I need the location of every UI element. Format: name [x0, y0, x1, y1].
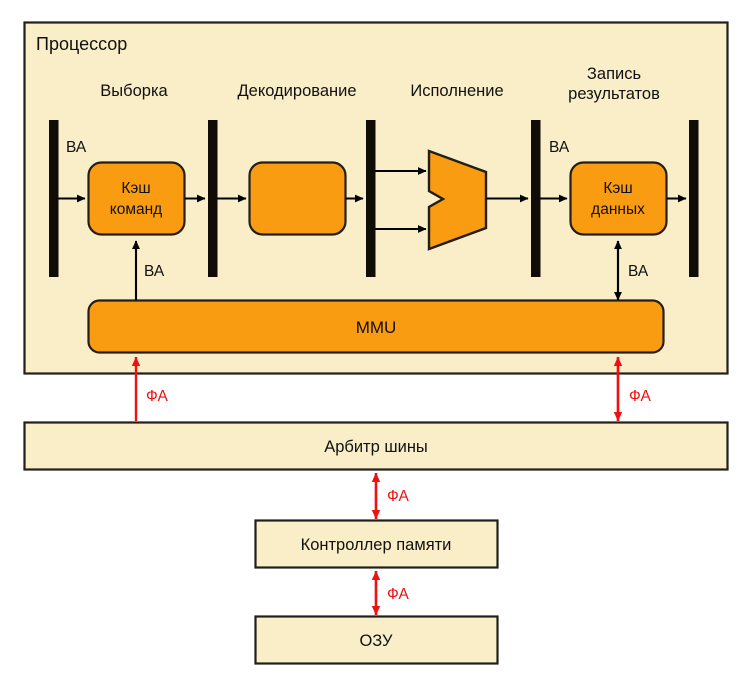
- data-cache-label-line2: данных: [591, 201, 645, 218]
- pipeline-register-bar-4: [531, 120, 541, 277]
- data-cache[interactable]: Кэш данных: [571, 163, 667, 235]
- stage-writeback-label-line2: результатов: [568, 85, 660, 103]
- fa-memctl-ram-label: ФА: [387, 586, 409, 603]
- ram-label: ОЗУ: [359, 632, 393, 650]
- va-icache-mmu-label: ВА: [144, 263, 165, 280]
- instruction-cache-label-line1: Кэш: [121, 180, 150, 197]
- pipeline-register-bar-5: [689, 120, 699, 277]
- bus-arbiter-label: Арбитр шины: [324, 438, 428, 456]
- data-cache-label-line1: Кэш: [603, 180, 632, 197]
- fa-mmu-left-arbiter-label: ФА: [146, 388, 168, 405]
- memory-controller-label: Контроллер памяти: [301, 536, 452, 554]
- memory-controller[interactable]: Контроллер памяти: [256, 521, 498, 568]
- va-dcache-mmu-label: ВА: [628, 263, 649, 280]
- fa-arbiter-memctl-label: ФА: [387, 488, 409, 505]
- fa-mmu-right-arbiter-label: ФА: [629, 388, 651, 405]
- va-writeback-input-label: ВА: [549, 139, 570, 156]
- stage-fetch-label: Выборка: [100, 82, 168, 100]
- stage-decode-label: Декодирование: [237, 82, 356, 100]
- stage-writeback-label-line1: Запись: [587, 65, 641, 83]
- instruction-cache[interactable]: Кэш команд: [89, 163, 185, 235]
- processor-label: Процессор: [36, 34, 127, 54]
- pipeline-register-bar-3: [366, 120, 376, 277]
- decode-unit[interactable]: [250, 163, 346, 235]
- bus-arbiter[interactable]: Арбитр шины: [25, 423, 728, 470]
- mmu[interactable]: MMU: [89, 301, 664, 353]
- va-fetch-input-label: ВА: [66, 139, 87, 156]
- mmu-label: MMU: [356, 318, 397, 337]
- diagram-canvas: Процессор Выборка Декодирование Исполнен…: [0, 0, 753, 689]
- stage-execute-label: Исполнение: [410, 82, 503, 100]
- instruction-cache-label-line2: команд: [110, 201, 162, 218]
- pipeline-register-bar-1: [49, 120, 59, 277]
- ram[interactable]: ОЗУ: [256, 617, 498, 664]
- pipeline-register-bar-2: [208, 120, 218, 277]
